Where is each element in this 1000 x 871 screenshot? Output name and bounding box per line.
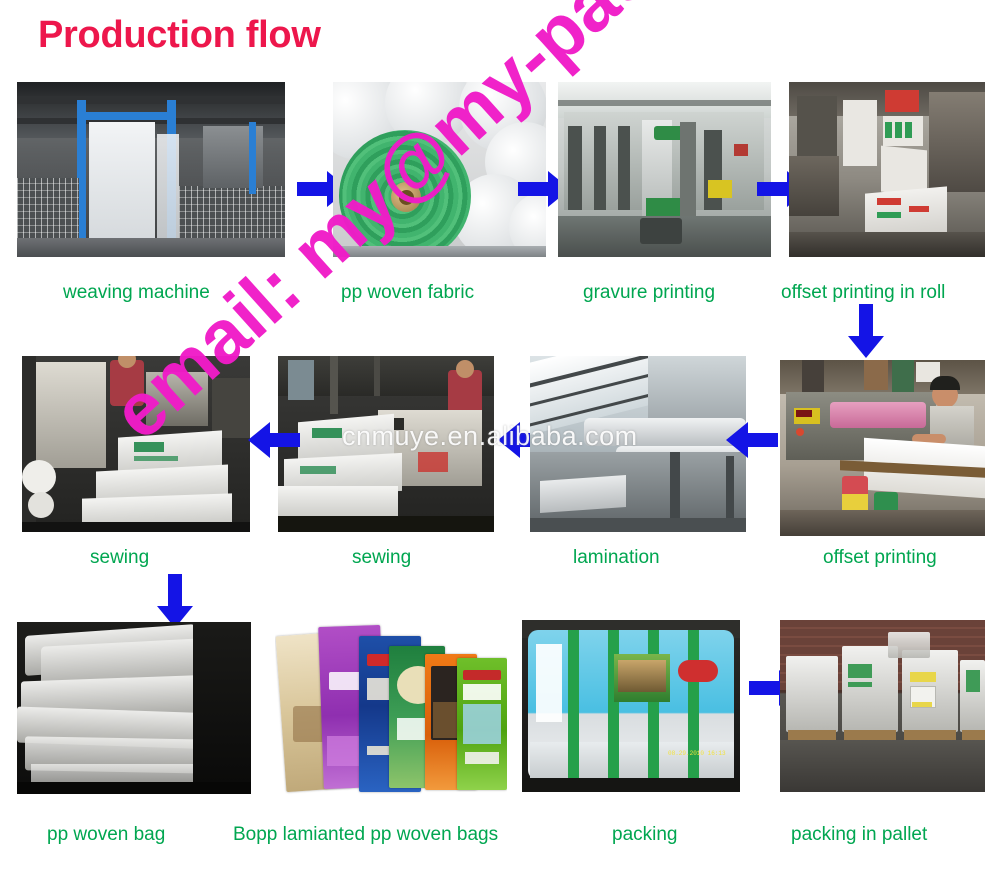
photo-gravure-printing bbox=[558, 82, 771, 257]
caption-offset-printing: offset printing bbox=[823, 548, 937, 567]
photo-sewing-1 bbox=[22, 356, 250, 532]
caption-lamination: lamination bbox=[573, 548, 660, 567]
photo-lamination bbox=[530, 356, 746, 532]
photo-pp-woven-fabric bbox=[333, 82, 546, 257]
photo-packing: 08.29.2010 16:13 bbox=[522, 620, 740, 792]
photo-weaving-machine bbox=[17, 82, 285, 257]
photo-pp-woven-bag bbox=[17, 622, 251, 794]
caption-packing: packing bbox=[612, 825, 678, 844]
photo-packing-in-pallet bbox=[780, 620, 985, 792]
caption-packing-in-pallet: packing in pallet bbox=[791, 825, 927, 844]
caption-weaving-machine: weaving machine bbox=[63, 283, 210, 302]
caption-gravure-printing: gravure printing bbox=[583, 283, 715, 302]
caption-pp-woven-bag: pp woven bag bbox=[47, 825, 165, 844]
arrow-sewing2-to-sewing1 bbox=[248, 420, 300, 460]
photo-sewing-2 bbox=[278, 356, 494, 532]
caption-sewing-2: sewing bbox=[352, 548, 411, 567]
photo-offset-printing bbox=[780, 360, 985, 536]
photo-bopp-laminated-bags bbox=[275, 618, 507, 796]
arrow-offset-print-to-lamination bbox=[726, 420, 778, 460]
arrow-sewing1-to-pp-woven-bag bbox=[155, 574, 195, 628]
page-title: Production flow bbox=[38, 14, 321, 57]
caption-offset-printing-in-roll: offset printing in roll bbox=[781, 283, 945, 302]
caption-pp-woven-fabric: pp woven fabric bbox=[341, 283, 474, 302]
photo-offset-printing-in-roll bbox=[789, 82, 985, 257]
caption-bopp-laminated-bags: Bopp lamianted pp woven bags bbox=[233, 825, 498, 844]
caption-sewing-1: sewing bbox=[90, 548, 149, 567]
arrow-offset-roll-to-offset-print bbox=[846, 304, 886, 358]
